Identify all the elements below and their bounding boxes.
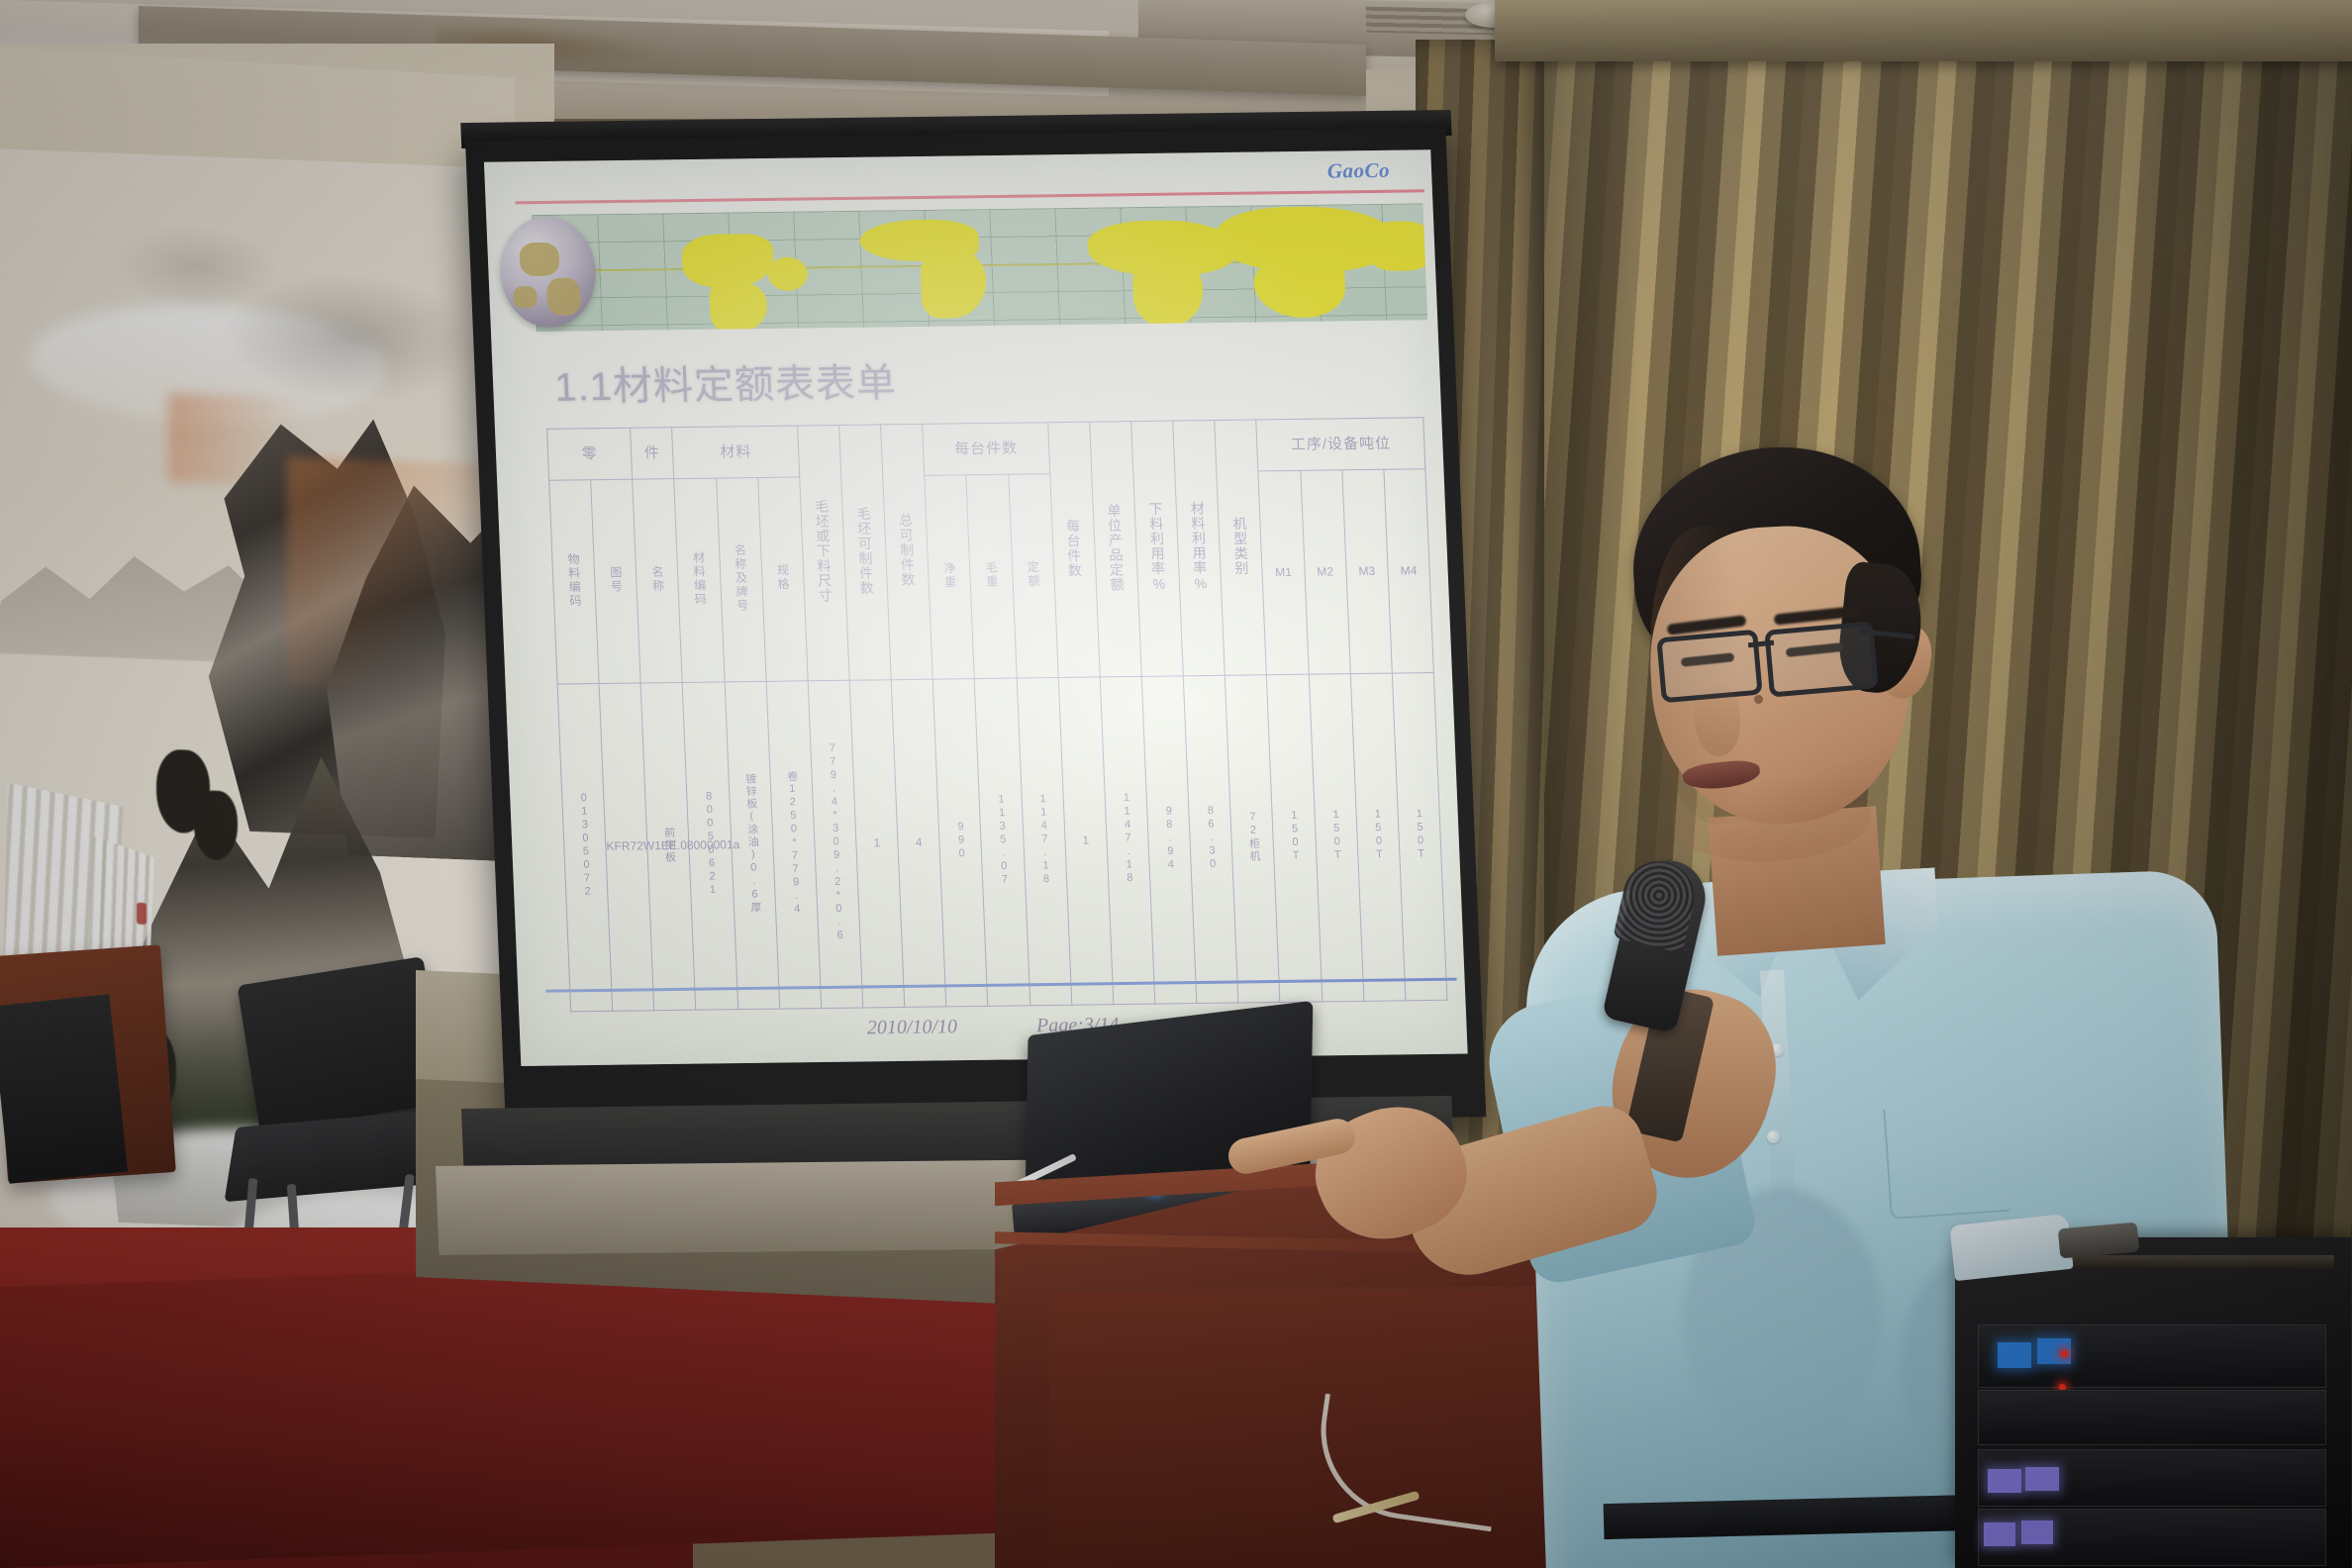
group-header-jian: 件 xyxy=(631,428,674,479)
group-header-ling: 零 xyxy=(547,428,633,480)
material-quota-table-wrap: 零 件 材料 毛坯或下料尺寸 毛坯可制件数 总可制件数 每台件数 每台件数 单位… xyxy=(546,417,1447,1012)
facial-mole xyxy=(1754,695,1763,704)
world-map-banner xyxy=(532,203,1427,332)
screen-frame: GaoCo xyxy=(465,128,1486,1129)
rack-unit xyxy=(1978,1390,2326,1445)
rack-led-indicator xyxy=(2061,1350,2068,1357)
shirt-pocket xyxy=(1883,1101,2011,1220)
conference-room-photo: GaoCo xyxy=(0,0,2352,1568)
curtain-rail xyxy=(1495,0,2352,61)
mural-peak xyxy=(327,458,505,862)
rack-display xyxy=(2025,1467,2059,1491)
gaoco-logo: GaoCo xyxy=(1326,158,1390,184)
shirt-button xyxy=(1767,1130,1780,1143)
group-header-cailiao: 材料 xyxy=(672,426,800,479)
folding-chair-back xyxy=(237,956,445,1132)
rack-display xyxy=(2021,1520,2053,1544)
header-dinge: 定额 xyxy=(1008,474,1058,678)
side-table-shadow xyxy=(0,994,128,1184)
table-row: 01305072 KFR72W1EE.08000001a 前侧板 8005062… xyxy=(557,673,1447,1012)
rack-display xyxy=(1998,1342,2031,1368)
mural-distant-mountains xyxy=(0,515,267,664)
rack-display xyxy=(1988,1469,2021,1493)
slide-title: 1.1材料定额表表单 xyxy=(553,350,898,412)
header-rule xyxy=(516,189,1424,204)
projection-screen: GaoCo xyxy=(465,128,1486,1129)
group-header-danweijian: 每台件数 xyxy=(923,423,1050,476)
table-column-header-row: 物料编码 图号 名称 材料编码 名称及牌号 规格 净重 毛重 定额 M1 M2 … xyxy=(549,469,1434,684)
header-guige: 规格 xyxy=(757,477,808,681)
rack-display xyxy=(1984,1522,2015,1546)
presentation-slide: GaoCo xyxy=(484,149,1468,1066)
material-quota-table: 零 件 材料 毛坯或下料尺寸 毛坯可制件数 总可制件数 每台件数 每台件数 单位… xyxy=(546,417,1447,1012)
footer-date: 2010/10/10 xyxy=(866,1016,957,1039)
mural-peak xyxy=(188,404,445,839)
slide-footer: 2010/10/10 Page:3/14 xyxy=(520,1009,1467,1043)
